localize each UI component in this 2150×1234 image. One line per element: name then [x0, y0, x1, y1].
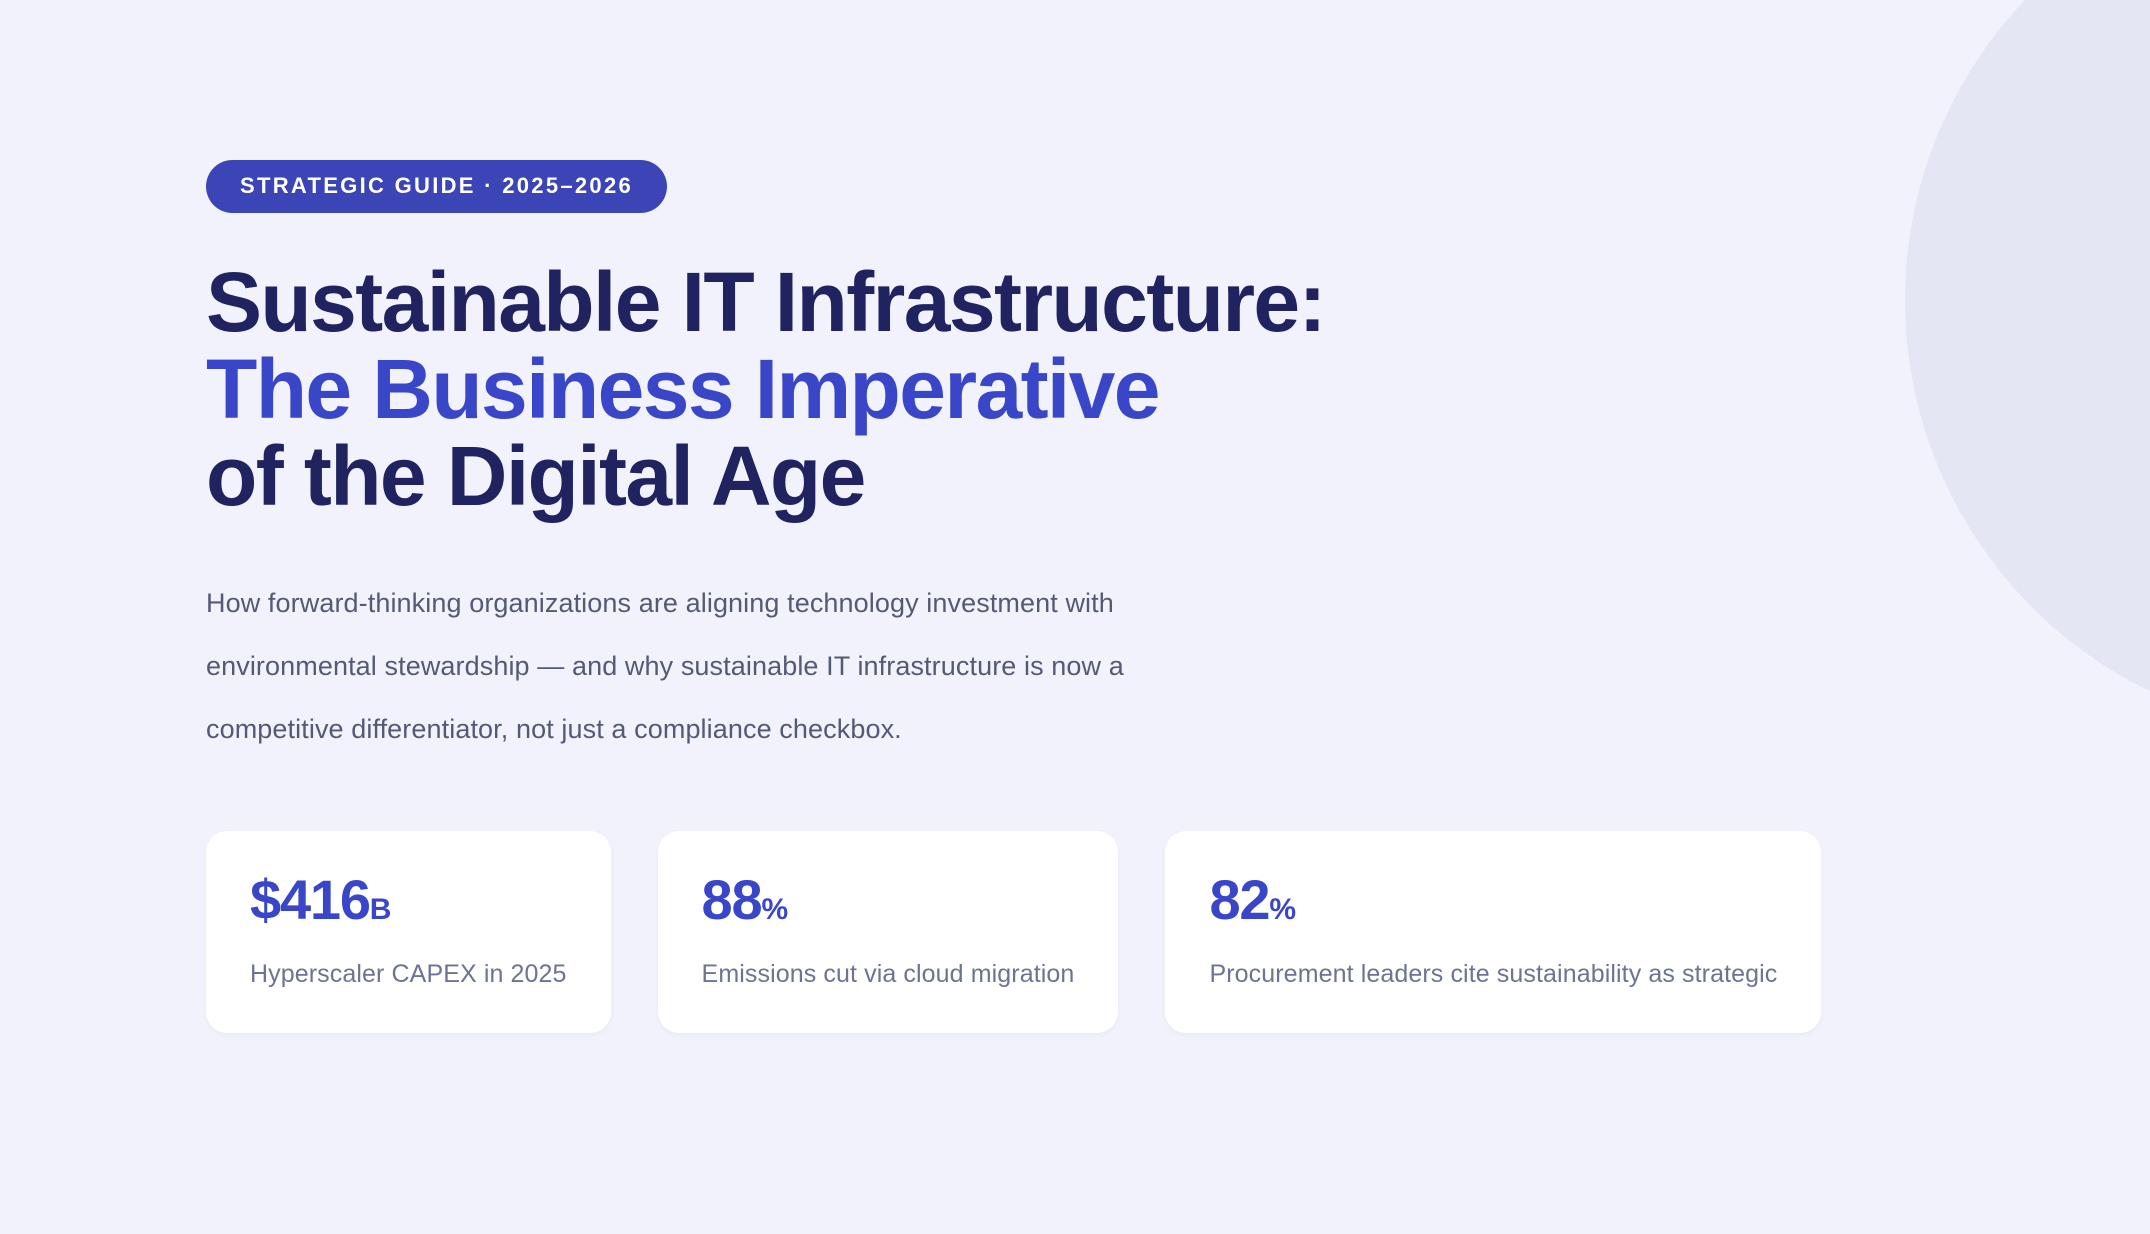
stat-number: 82 — [1209, 868, 1269, 931]
stat-value: $416B — [250, 871, 567, 939]
stat-number: $416 — [250, 868, 370, 931]
stat-card-group: $416B Hyperscaler CAPEX in 2025 88% Emis… — [206, 831, 2150, 1033]
stat-card: $416B Hyperscaler CAPEX in 2025 — [206, 831, 611, 1033]
stat-card: 88% Emissions cut via cloud migration — [658, 831, 1119, 1033]
subtitle-line-3: competitive differentiator, not just a c… — [206, 698, 1406, 761]
hero-page: STRATEGIC GUIDE · 2025–2026 Sustainable … — [0, 0, 2150, 1234]
headline-line-1: Sustainable IT Infrastructure: — [206, 259, 2150, 346]
eyebrow-badge: STRATEGIC GUIDE · 2025–2026 — [206, 160, 667, 213]
page-subtitle: How forward-thinking organizations are a… — [206, 572, 1406, 761]
headline-line-3: of the Digital Age — [206, 433, 2150, 520]
stat-value: 82% — [1209, 871, 1777, 939]
stat-label: Hyperscaler CAPEX in 2025 — [250, 959, 567, 989]
stat-number: 88 — [702, 868, 762, 931]
stat-value: 88% — [702, 871, 1075, 939]
subtitle-line-1: How forward-thinking organizations are a… — [206, 572, 1406, 635]
stat-suffix: B — [370, 893, 391, 926]
stat-suffix: % — [761, 893, 787, 926]
stat-label: Procurement leaders cite sustainability … — [1209, 959, 1777, 989]
stat-card: 82% Procurement leaders cite sustainabil… — [1165, 831, 1821, 1033]
stat-suffix: % — [1269, 893, 1295, 926]
page-title: Sustainable IT Infrastructure: The Busin… — [206, 259, 2150, 520]
subtitle-line-2: environmental stewardship — and why sust… — [206, 635, 1406, 698]
stat-label: Emissions cut via cloud migration — [702, 959, 1075, 989]
headline-line-2: The Business Imperative — [206, 346, 2150, 433]
